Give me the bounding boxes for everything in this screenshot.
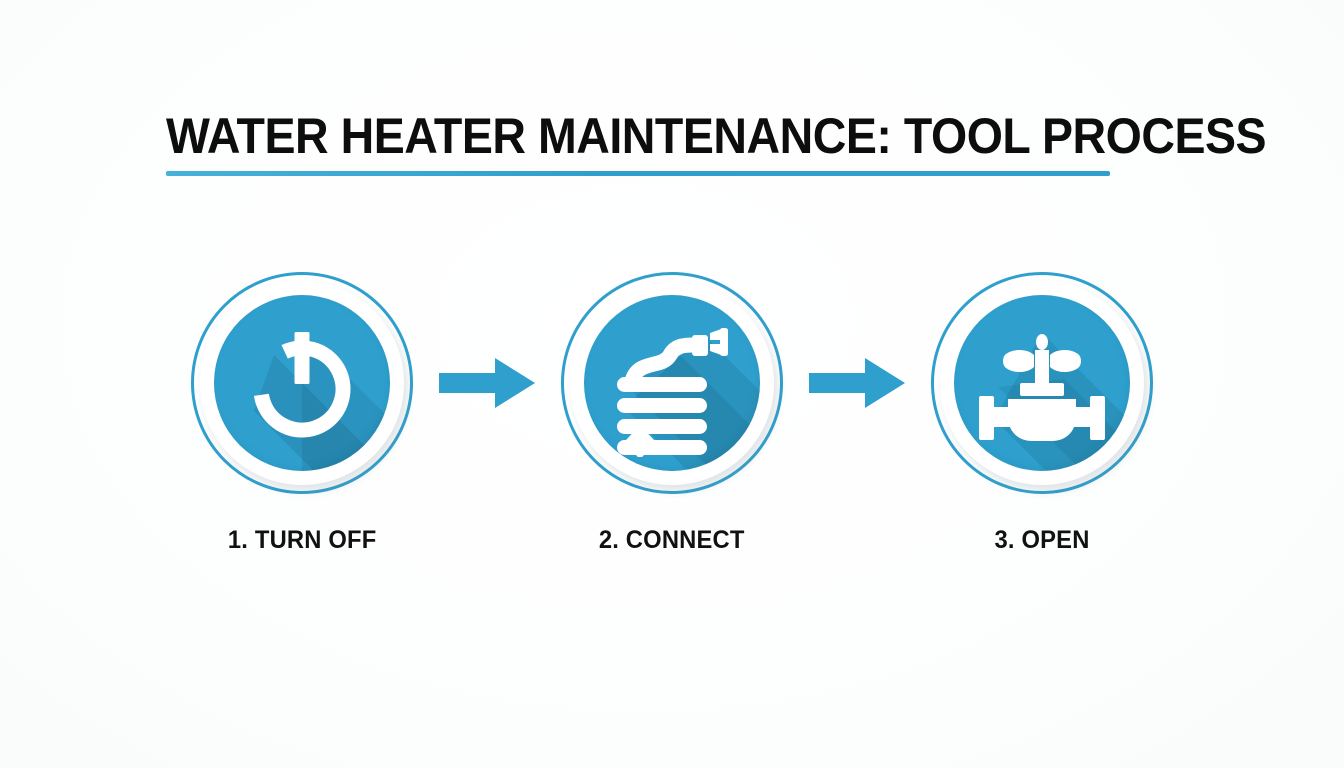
infographic-canvas: WATER HEATER MAINTENANCE: TOOL PROCESS bbox=[0, 0, 1344, 768]
process-step-2[interactable]: 2. CONNECT bbox=[547, 272, 797, 555]
process-step-1[interactable]: 1. TURN OFF bbox=[177, 272, 427, 555]
step-3-badge[interactable] bbox=[931, 272, 1153, 494]
title-block: WATER HEATER MAINTENANCE: TOOL PROCESS bbox=[166, 108, 1116, 176]
badge-disc bbox=[954, 295, 1130, 471]
connector-arrow-2 bbox=[797, 272, 917, 494]
step-2-label: 2. CONNECT bbox=[599, 526, 745, 555]
arrow-right-icon bbox=[807, 355, 907, 411]
connector-arrow-1 bbox=[427, 272, 547, 494]
step-2-badge[interactable] bbox=[561, 272, 783, 494]
step-1-label: 1. TURN OFF bbox=[228, 526, 377, 555]
process-step-3[interactable]: 3. OPEN bbox=[917, 272, 1167, 555]
step-1-badge[interactable] bbox=[191, 272, 413, 494]
valve-icon bbox=[954, 295, 1130, 471]
step-3-label: 3. OPEN bbox=[994, 526, 1089, 555]
garden-hose-icon bbox=[584, 295, 760, 471]
badge-disc bbox=[214, 295, 390, 471]
arrow-right-icon bbox=[437, 355, 537, 411]
title-underline-rule bbox=[166, 171, 1110, 176]
page-title: WATER HEATER MAINTENANCE: TOOL PROCESS bbox=[166, 108, 1050, 164]
process-steps-row: 1. TURN OFF bbox=[0, 272, 1344, 555]
power-button-icon bbox=[214, 295, 390, 471]
badge-disc bbox=[584, 295, 760, 471]
